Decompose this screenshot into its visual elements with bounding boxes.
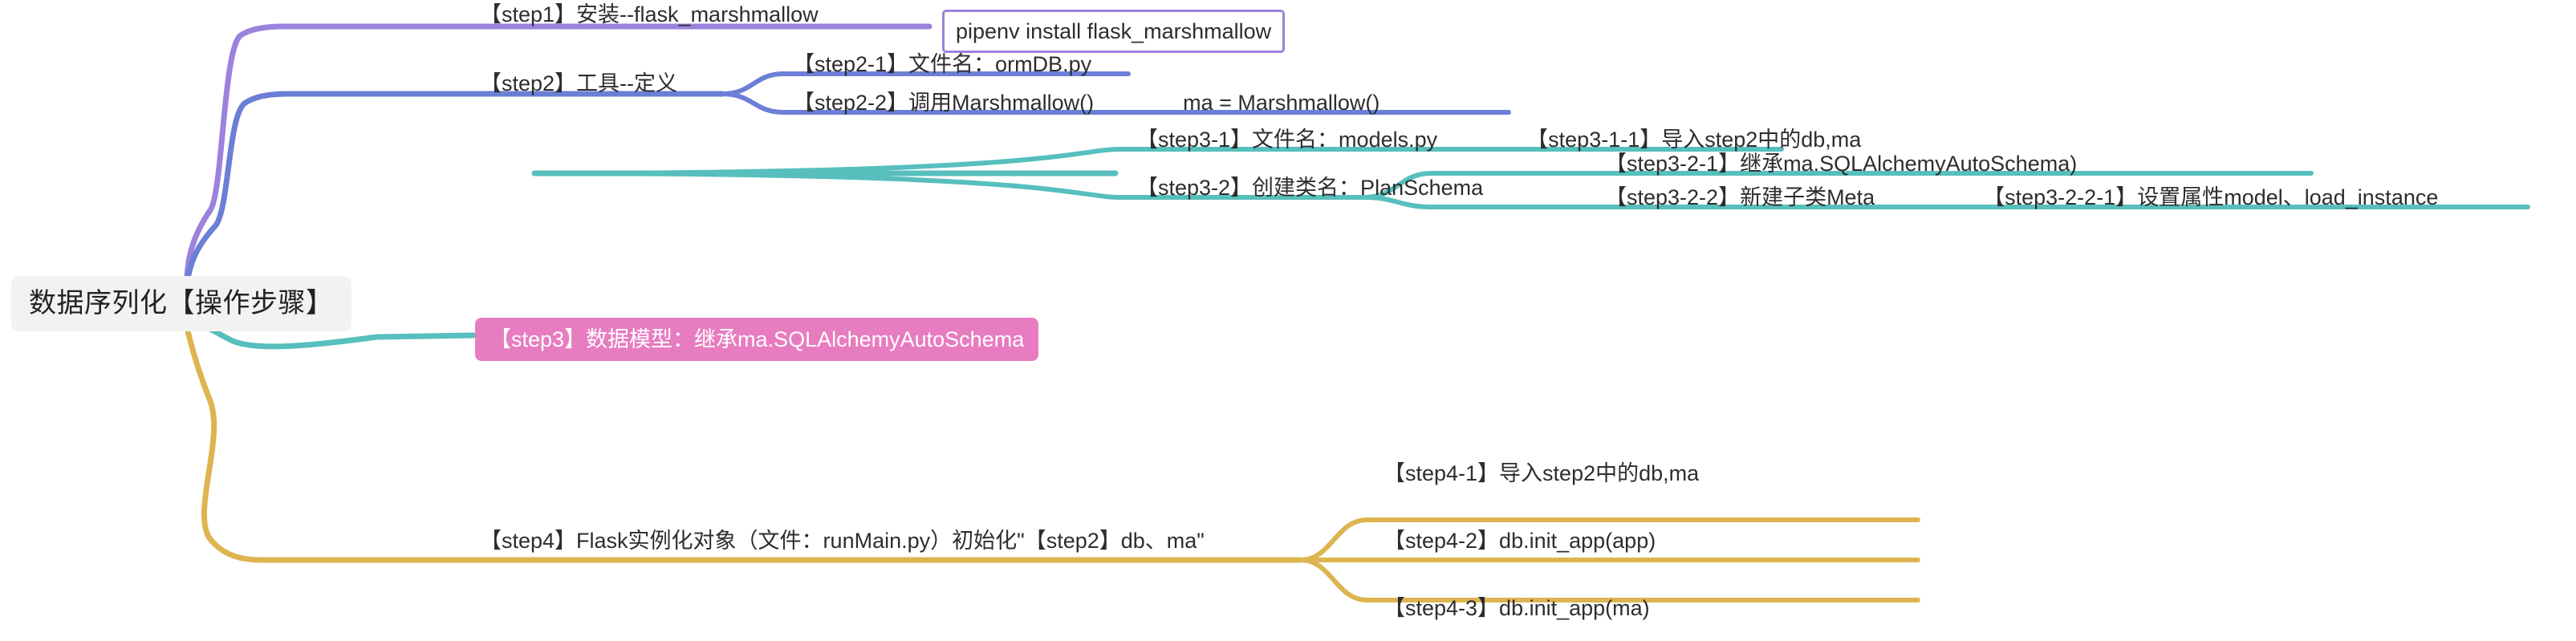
node-step3-2-2[interactable]: 【step3-2-2】新建子类Meta 【step3-2-2-1】设置属性mod… — [1600, 183, 2443, 212]
node-step4[interactable]: 【step4】Flask实例化对象（文件：runMain.py）初始化"【ste… — [475, 526, 1209, 555]
node-step1[interactable]: 【step1】安装--flask_marshmallow — [475, 0, 823, 29]
node-step3-2-1[interactable]: 【step3-2-1】继承ma.SQLAlchemyAutoSchema) — [1600, 149, 2082, 178]
mindmap-canvas: 数据序列化【操作步骤】 【step1】安装--flask_marshmallow… — [0, 0, 2576, 641]
node-step4-3[interactable]: 【step4-3】db.init_app(ma) — [1379, 594, 1655, 623]
node-step1-command[interactable]: pipenv install flask_marshmallow — [942, 10, 1285, 53]
node-step3-2-2-label: 【step3-2-2】新建子类Meta — [1605, 185, 1875, 209]
node-step2-2[interactable]: 【step2-2】调用Marshmallow() ma = Marshmallo… — [788, 88, 1384, 117]
node-step3[interactable]: 【step3】数据模型：继承ma.SQLAlchemyAutoSchema — [475, 318, 1038, 361]
node-step4-1[interactable]: 【step4-1】导入step2中的db,ma — [1379, 459, 1704, 488]
root-node[interactable]: 数据序列化【操作步骤】 — [11, 276, 351, 331]
node-step2-2-code: ma = Marshmallow() — [1183, 91, 1379, 115]
node-step3-1-1: 【step3-1-1】导入step2中的db,ma — [1526, 128, 1861, 152]
node-step2[interactable]: 【step2】工具--定义 — [475, 69, 682, 98]
node-step2-2-label: 【step2-2】调用Marshmallow() — [793, 91, 1094, 115]
node-step4-2[interactable]: 【step4-2】db.init_app(app) — [1379, 526, 1660, 555]
node-step3-2[interactable]: 【step3-2】创建类名：PlanSchema — [1132, 173, 1488, 202]
node-step3-1-label: 【step3-1】文件名：models.py — [1136, 128, 1437, 152]
node-step3-2-2-1: 【step3-2-2-1】设置属性model、load_instance — [1983, 185, 2438, 209]
node-step2-1[interactable]: 【step2-1】文件名：ormDB.py — [788, 50, 1096, 79]
